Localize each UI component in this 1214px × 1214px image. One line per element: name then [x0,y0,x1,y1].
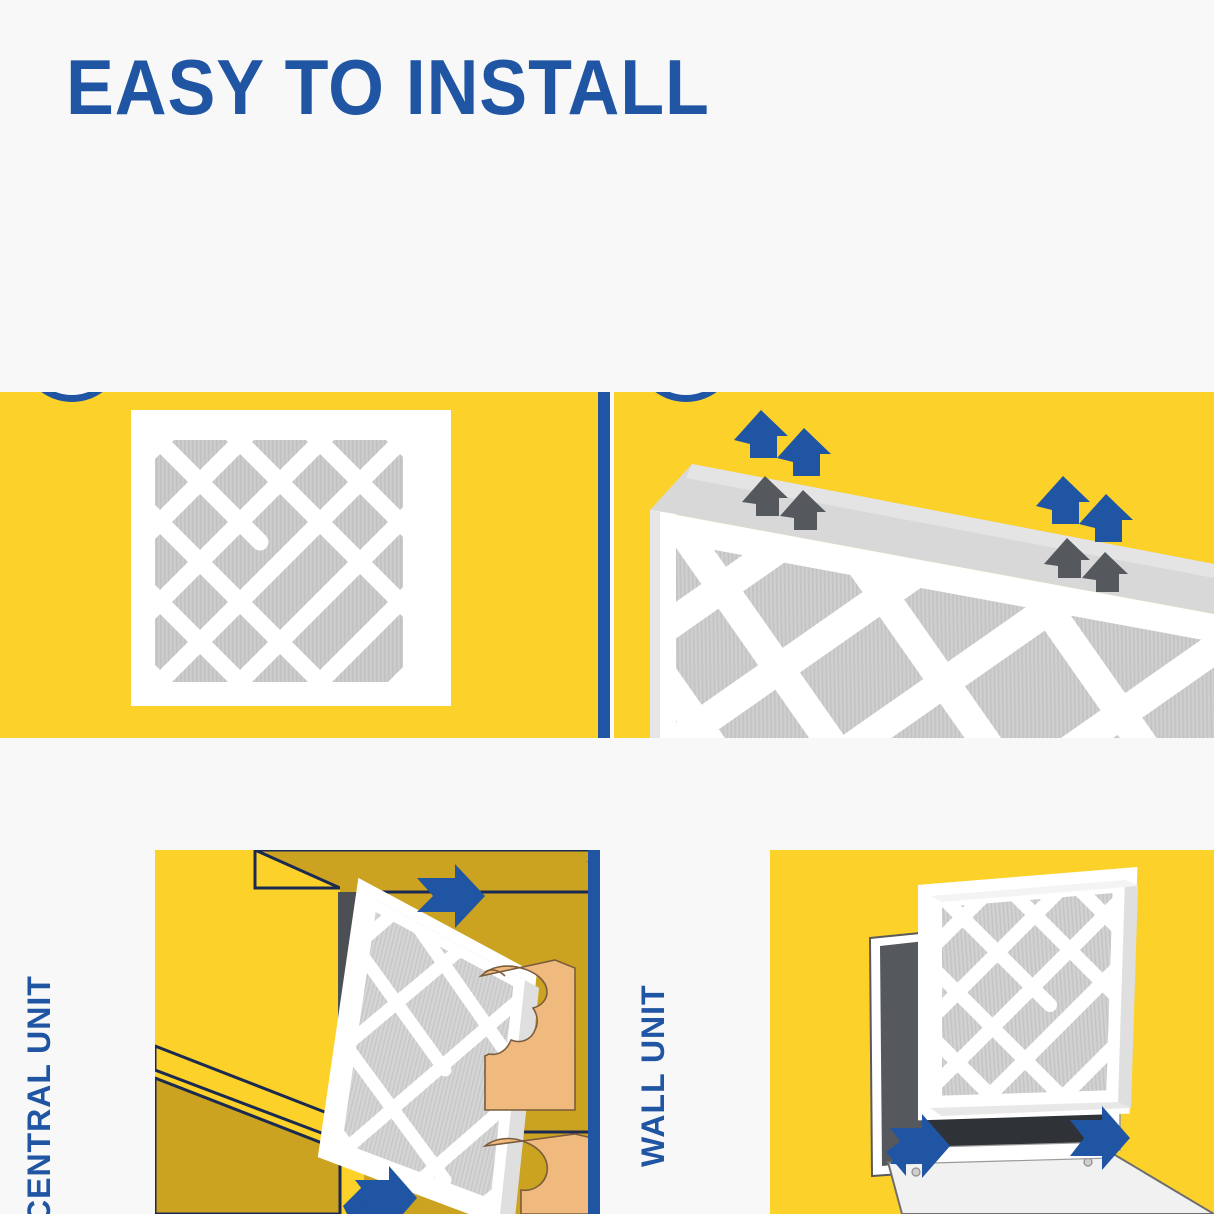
panel-2-artwork [614,392,1214,738]
page-title: EASY TO INSTALL [66,48,710,126]
airflow-arrow-blue-right [1036,476,1133,542]
side-label-wall-unit: WALL UNIT [635,984,672,1167]
panel-step-1: Unpack 1 [0,392,600,738]
air-filter-front-icon [0,392,600,738]
airflow-arrow-blue-left [734,410,831,476]
wall-unit-install-icon [770,850,1214,1214]
side-label-central-unit: CENTRAL UNIT [21,975,58,1214]
panel-step-2: Follow arrow 2 [614,392,1214,738]
panel-4-artwork [770,850,1214,1214]
panel-step-4: Slide in slot 4 [770,850,1214,1214]
air-filter-tilted-icon [614,392,1214,738]
infographic-root: EASY TO INSTALL [0,0,1214,1214]
panel-1-artwork [0,392,600,738]
central-unit-install-icon [155,850,600,1214]
divider-column-bottom [588,850,600,1214]
panel-3-artwork [155,850,600,1214]
panel-step-3: Slide in slot 3 [155,850,600,1214]
divider-column-top [598,392,610,738]
